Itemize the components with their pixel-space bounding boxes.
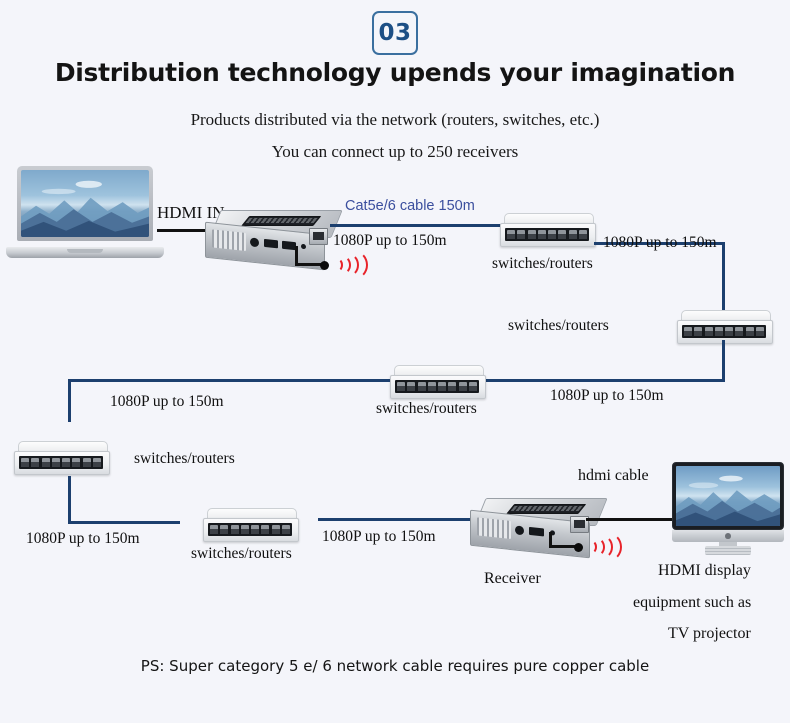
- cat-cable-label: Cat5e/6 cable 150m: [345, 198, 475, 214]
- link-1-label: 1080P up to 150m: [333, 232, 447, 250]
- switch-2: [677, 310, 771, 344]
- link-3-line-horizontal: [486, 379, 725, 382]
- hdmi-output-cable: [586, 518, 676, 521]
- receiver-label: Receiver: [484, 570, 541, 588]
- switch-1-label: switches/routers: [492, 255, 593, 273]
- section-number-badge: 03: [372, 11, 418, 55]
- switch-2-ports: [682, 325, 766, 338]
- switch-2-label: switches/routers: [508, 317, 609, 335]
- switch-3-ports: [395, 380, 479, 393]
- switch-4-body: [14, 451, 110, 475]
- link-6-label: 1080P up to 150m: [322, 528, 436, 546]
- link-5-line-horizontal: [68, 521, 180, 524]
- receiver-power-port: [515, 525, 524, 535]
- display-label-line-1: HDMI display: [658, 562, 751, 580]
- link-6-line: [318, 518, 476, 521]
- display-label-line-2: equipment such as: [633, 594, 751, 612]
- ir-emitter-dot: [320, 261, 329, 270]
- ir-emitter-icon: [320, 254, 366, 276]
- switch-5-label: switches/routers: [191, 545, 292, 563]
- hdmi-cable-label: hdmi cable: [578, 467, 649, 485]
- transmitter-display-strip: [241, 216, 321, 226]
- transmitter-rj45-port: [309, 228, 328, 245]
- laptop-notch: [67, 249, 103, 253]
- switch-1-body: [500, 223, 596, 247]
- transmitter-ir-jack: [301, 244, 306, 250]
- hdmi-extender-transmitter: [205, 210, 337, 268]
- switch-4-label: switches/routers: [134, 450, 235, 468]
- receiver-ir-wave-arcs: [585, 536, 619, 558]
- switch-4-ports: [19, 456, 103, 469]
- monitor-bezel: [672, 462, 784, 530]
- transmitter-hdmi-port-a: [264, 239, 278, 248]
- switch-2-body: [677, 320, 773, 344]
- diagram-canvas: 03 Distribution technology upends your i…: [0, 0, 790, 723]
- link-1-line: [330, 224, 502, 227]
- receiver-ir-emitter-icon: [574, 536, 620, 558]
- footer-note: PS: Super category 5 e/ 6 network cable …: [0, 657, 790, 675]
- source-laptop: [6, 166, 164, 258]
- link-4-line-horizontal: [68, 379, 390, 382]
- subtitle-line-1: Products distributed via the network (ro…: [0, 110, 790, 130]
- transmitter-hdmi-port-b: [282, 241, 296, 250]
- transmitter-ir-lead-horizontal: [295, 263, 323, 266]
- monitor-screen: [676, 466, 780, 526]
- receiver-ir-lead-horizontal: [549, 545, 577, 548]
- mountain-wallpaper: [21, 170, 149, 237]
- receiver-display-strip: [506, 504, 586, 514]
- page-title: Distribution technology upends your imag…: [0, 58, 790, 87]
- hdmi-display-monitor: [672, 462, 784, 558]
- receiver-vents: [477, 517, 511, 539]
- transmitter-power-port: [250, 237, 259, 247]
- link-4-line-vertical: [68, 379, 71, 422]
- switch-3: [390, 365, 484, 399]
- display-label-line-3: TV projector: [668, 625, 751, 643]
- link-3-label: 1080P up to 150m: [550, 387, 664, 405]
- monitor-stand: [705, 546, 751, 555]
- laptop-screen: [21, 170, 149, 237]
- receiver-ir-emitter-dot: [574, 543, 583, 552]
- ir-wave-arcs: [331, 254, 365, 276]
- subtitle-line-2: You can connect up to 250 receivers: [0, 142, 790, 162]
- link-4-label: 1080P up to 150m: [110, 393, 224, 411]
- laptop-lid: [17, 166, 153, 241]
- transmitter-vents: [212, 229, 246, 251]
- switch-5-ports: [208, 523, 292, 536]
- switch-5: [203, 508, 297, 542]
- link-5-label: 1080P up to 150m: [26, 530, 140, 548]
- monitor-mountain-wallpaper: [676, 466, 780, 526]
- switch-5-body: [203, 518, 299, 542]
- switch-4: [14, 441, 108, 475]
- apple-logo-icon: [725, 533, 731, 539]
- switch-3-label: switches/routers: [376, 400, 477, 418]
- switch-1-ports: [505, 228, 589, 241]
- receiver-hdmi-port: [529, 527, 544, 537]
- link-3-line-vertical: [722, 340, 725, 382]
- link-5-line-vertical: [68, 476, 71, 524]
- link-2-label: 1080P up to 150m: [603, 234, 717, 252]
- switch-3-body: [390, 375, 486, 399]
- switch-1: [500, 213, 594, 247]
